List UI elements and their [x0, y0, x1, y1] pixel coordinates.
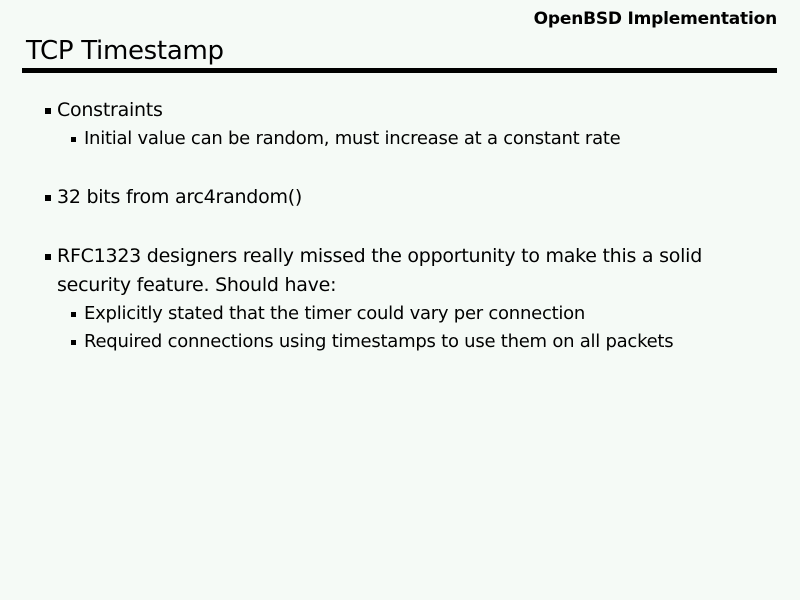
list-item-label: 32 bits from arc4random() [57, 183, 760, 212]
list-item: RFC1323 designers really missed the oppo… [0, 242, 800, 300]
slide-body: Constraints Initial value can be random,… [0, 96, 800, 356]
title-divider [22, 68, 777, 73]
list-item-label: Explicitly stated that the timer could v… [84, 300, 760, 328]
bullet-block: Constraints Initial value can be random,… [0, 96, 800, 153]
list-item: Required connections using timestamps to… [0, 328, 800, 356]
square-bullet-icon [45, 195, 51, 201]
list-item-label: Initial value can be random, must increa… [84, 125, 760, 153]
list-item-label: Constraints [57, 96, 760, 125]
list-item-label: RFC1323 designers really missed the oppo… [57, 242, 760, 300]
square-bullet-icon [45, 108, 51, 114]
presentation-section-label: OpenBSD Implementation [22, 8, 777, 30]
list-item: Constraints [0, 96, 800, 125]
bullet-block: RFC1323 designers really missed the oppo… [0, 242, 800, 356]
slide-header: OpenBSD Implementation [22, 8, 777, 34]
square-bullet-icon [45, 254, 51, 260]
slide: OpenBSD Implementation TCP Timestamp Con… [0, 0, 800, 600]
list-item: Initial value can be random, must increa… [0, 125, 800, 153]
square-bullet-icon [71, 312, 76, 317]
list-item-label: Required connections using timestamps to… [84, 328, 760, 356]
list-item: Explicitly stated that the timer could v… [0, 300, 800, 328]
page-title: TCP Timestamp [26, 36, 224, 66]
square-bullet-icon [71, 340, 76, 345]
bullet-block: 32 bits from arc4random() [0, 183, 800, 212]
square-bullet-icon [71, 137, 76, 142]
list-item: 32 bits from arc4random() [0, 183, 800, 212]
